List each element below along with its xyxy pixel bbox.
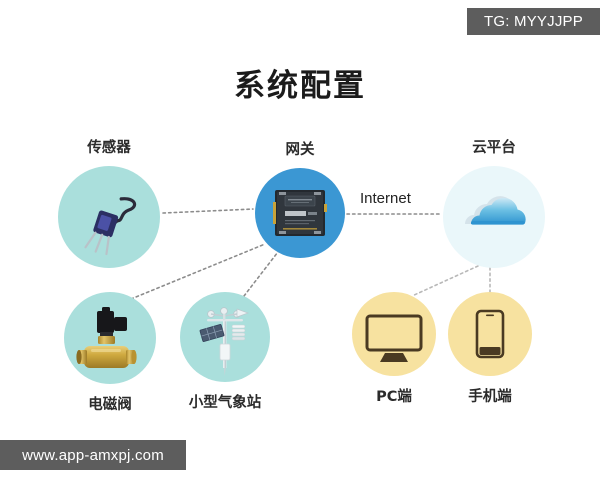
node-weather[interactable]: 小型气象站 xyxy=(180,292,270,382)
node-sensor[interactable]: 传感器 xyxy=(58,166,160,268)
node-valve-disc xyxy=(64,292,156,384)
gateway-module-icon xyxy=(255,168,345,258)
monitor-icon xyxy=(352,292,436,376)
node-pc-disc xyxy=(352,292,436,376)
soil-moisture-sensor-icon xyxy=(58,166,160,268)
website-watermark: www.app-amxpj.com xyxy=(0,440,186,470)
node-gateway-disc xyxy=(255,168,345,258)
node-pc[interactable]: PC端 xyxy=(352,292,436,376)
node-weather-label: 小型气象站 xyxy=(145,391,305,412)
internet-label: Internet xyxy=(360,190,411,207)
node-valve[interactable]: 电磁阀 xyxy=(64,292,156,384)
node-cloud-label: 云平台 xyxy=(414,136,574,157)
smartphone-icon xyxy=(448,292,532,376)
node-mobile-label: 手机端 xyxy=(410,385,570,406)
node-weather-disc xyxy=(180,292,270,382)
node-sensor-label: 传感器 xyxy=(29,136,189,157)
node-mobile[interactable]: 手机端 xyxy=(448,292,532,376)
weather-station-icon xyxy=(180,292,270,382)
node-mobile-disc xyxy=(448,292,532,376)
node-cloud-disc xyxy=(443,166,545,268)
diagram-canvas: 系统配置 Internet 传感器 xyxy=(0,0,600,480)
node-cloud[interactable]: 云平台 xyxy=(443,166,545,268)
cloud-icon xyxy=(443,166,545,268)
page-title: 系统配置 xyxy=(0,60,600,105)
node-gateway[interactable]: 网关 xyxy=(255,168,345,258)
node-sensor-disc xyxy=(58,166,160,268)
node-gateway-label: 网关 xyxy=(220,138,380,159)
link-sensor-gateway xyxy=(163,209,253,213)
solenoid-valve-icon xyxy=(64,292,156,384)
telegram-watermark: TG: MYYJJPP xyxy=(467,8,600,35)
